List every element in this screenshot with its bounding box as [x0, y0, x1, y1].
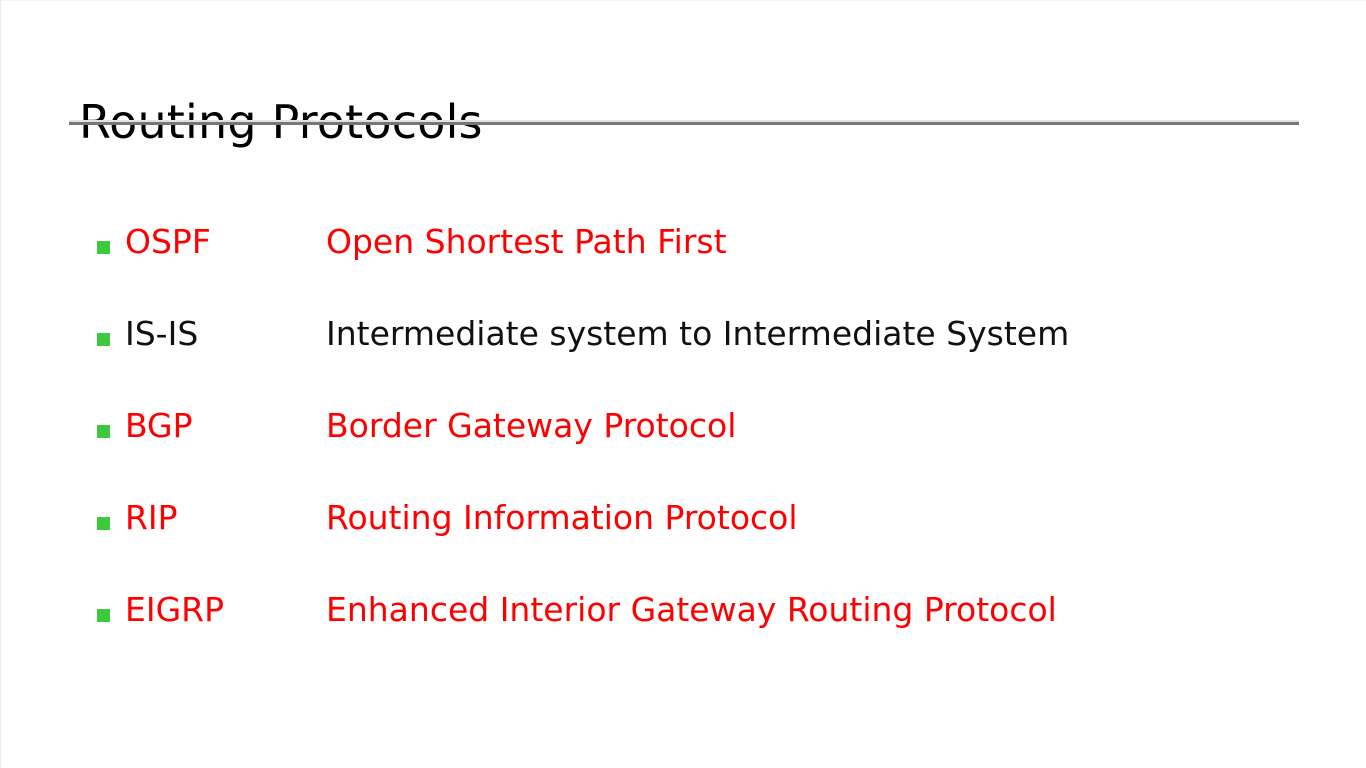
protocol-description: Routing Information Protocol: [326, 495, 1297, 541]
list-item: RIP Routing Information Protocol: [97, 495, 1297, 587]
protocol-name: EIGRP: [110, 587, 326, 633]
protocol-description: Intermediate system to Intermediate Syst…: [326, 311, 1297, 357]
list-item: IS-IS Intermediate system to Intermediat…: [97, 311, 1297, 403]
protocol-name: BGP: [110, 403, 326, 449]
protocol-name: IS-IS: [110, 311, 326, 357]
protocol-description: Border Gateway Protocol: [326, 403, 1297, 449]
title-divider: [69, 120, 1299, 125]
square-bullet-icon: [97, 241, 110, 254]
list-item: EIGRP Enhanced Interior Gateway Routing …: [97, 587, 1297, 679]
protocol-list: OSPF Open Shortest Path First IS-IS Inte…: [97, 219, 1297, 679]
protocol-name: OSPF: [110, 219, 326, 265]
presentation-slide: Routing Protocols OSPF Open Shortest Pat…: [0, 0, 1366, 768]
list-item: OSPF Open Shortest Path First: [97, 219, 1297, 311]
square-bullet-icon: [97, 333, 110, 346]
square-bullet-icon: [97, 609, 110, 622]
protocol-description: Enhanced Interior Gateway Routing Protoc…: [326, 587, 1297, 633]
protocol-description: Open Shortest Path First: [326, 219, 1297, 265]
square-bullet-icon: [97, 517, 110, 530]
protocol-name: RIP: [110, 495, 326, 541]
square-bullet-icon: [97, 425, 110, 438]
list-item: BGP Border Gateway Protocol: [97, 403, 1297, 495]
title-divider-line: [69, 122, 1299, 125]
